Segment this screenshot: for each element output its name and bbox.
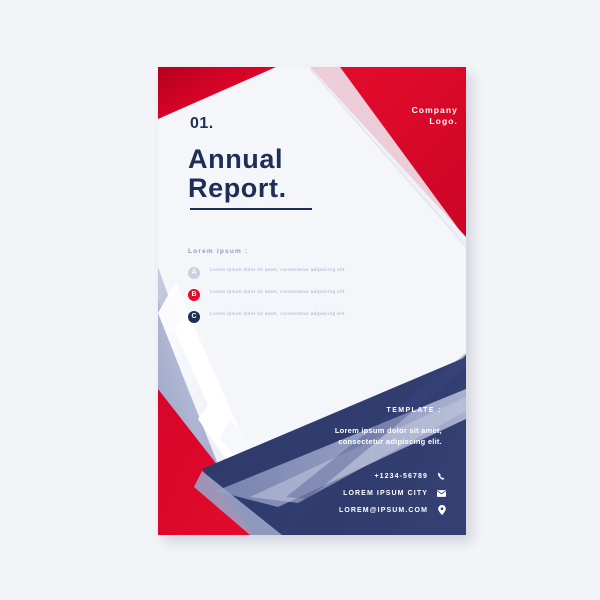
title-line-2: Report. (188, 174, 287, 203)
template-body-line-2: consectetur adipiscing elit. (242, 436, 442, 447)
template-body: Lorem ipsum dolor sit amet, consectetur … (242, 425, 442, 447)
page-title: Annual Report. (188, 145, 287, 203)
bullet-marker-b: B (188, 289, 200, 301)
list-heading: Lorem ipsum : (188, 248, 248, 255)
location-pin-icon (437, 505, 446, 516)
template-label: TEMPLATE : (387, 407, 442, 414)
company-logo: Company Logo. (396, 105, 458, 127)
company-logo-line-2: Logo. (396, 116, 458, 127)
contact-row-phone: +1234-56789 (236, 469, 446, 483)
title-underline (190, 208, 312, 210)
contact-row-city: LOREM IPSUM CITY (236, 486, 446, 500)
list-item: C Lorem ipsum dolor sit amet, consectetu… (188, 310, 388, 329)
bullet-marker-c: C (188, 311, 200, 323)
contact-city-text: LOREM IPSUM CITY (343, 490, 428, 497)
annual-report-poster: 01. Annual Report. Company Logo. Lorem i… (158, 67, 466, 535)
list-item: A Lorem ipsum dolor sit amet, consectetu… (188, 266, 388, 285)
list-item: B Lorem ipsum dolor sit amet, consectetu… (188, 288, 388, 307)
contact-list: +1234-56789 LOREM IPSUM CITY (236, 469, 446, 520)
canvas: 01. Annual Report. Company Logo. Lorem i… (0, 0, 600, 600)
list-item-text: Lorem ipsum dolor sit amet, consectetur … (210, 289, 370, 296)
poster-content: 01. Annual Report. Company Logo. Lorem i… (158, 67, 466, 535)
list-item-text: Lorem ipsum dolor sit amet, consectetur … (210, 267, 370, 274)
section-number: 01. (190, 115, 214, 133)
title-line-1: Annual (188, 145, 287, 174)
contact-row-email: LOREM@IPSUM.COM (236, 503, 446, 517)
list-item-text: Lorem ipsum dolor sit amet, consectetur … (210, 311, 370, 318)
contact-phone-text: +1234-56789 (374, 473, 428, 480)
phone-icon (437, 471, 446, 482)
template-body-line-1: Lorem ipsum dolor sit amet, (242, 425, 442, 436)
bullet-list: A Lorem ipsum dolor sit amet, consectetu… (188, 266, 388, 332)
envelope-icon (437, 488, 446, 499)
contact-email-text: LOREM@IPSUM.COM (339, 507, 428, 514)
bullet-marker-a: A (188, 267, 200, 279)
company-logo-line-1: Company (396, 105, 458, 116)
